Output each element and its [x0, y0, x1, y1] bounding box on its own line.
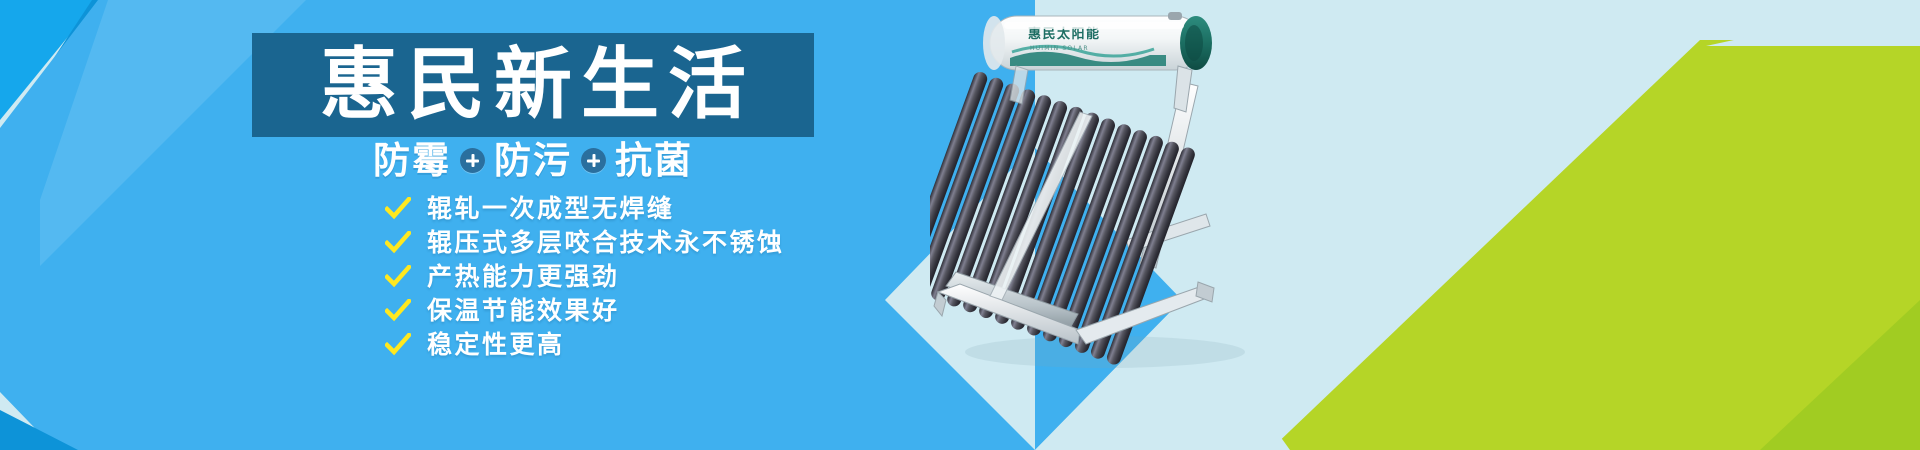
- storage-tank: 惠民太阳能 HUIMIN SOLAR: [983, 12, 1212, 70]
- check-icon: [385, 299, 411, 323]
- feature-label: 产热能力更强劲: [427, 264, 620, 289]
- page-title: 惠民新生活: [252, 33, 814, 137]
- feature-label: 辊压式多层咬合技术永不锈蚀: [427, 230, 785, 255]
- plus-icon: [460, 148, 485, 173]
- subtitle-word-3: 抗菌: [615, 142, 693, 179]
- tank-brand-sublabel: HUIMIN SOLAR: [1030, 45, 1089, 52]
- check-icon: [385, 197, 411, 221]
- check-icon: [385, 333, 411, 357]
- check-icon: [385, 231, 411, 255]
- feature-label: 辊轧一次成型无焊缝: [427, 196, 675, 221]
- feature-label: 稳定性更高: [427, 332, 565, 357]
- banner-content: 惠民新生活 防霉 防污 抗菌 辊轧一次成型无焊缝 辊压式多层咬合技术永不锈蚀: [0, 0, 1000, 450]
- list-item: 稳定性更高: [385, 332, 785, 357]
- feature-list: 辊轧一次成型无焊缝 辊压式多层咬合技术永不锈蚀 产热能力更强劲 保温节能效果好: [385, 196, 785, 357]
- solar-water-heater-image: 惠民太阳能 HUIMIN SOLAR: [930, 0, 1290, 450]
- subtitle-word-1: 防霉: [373, 142, 451, 179]
- subtitle-row: 防霉 防污 抗菌: [252, 142, 814, 179]
- title-plate: 惠民新生活: [252, 33, 814, 137]
- promotional-banner: 惠民新生活 防霉 防污 抗菌 辊轧一次成型无焊缝 辊压式多层咬合技术永不锈蚀: [0, 0, 1920, 450]
- feature-label: 保温节能效果好: [427, 298, 620, 323]
- list-item: 辊压式多层咬合技术永不锈蚀: [385, 230, 785, 255]
- plus-icon: [581, 148, 606, 173]
- list-item: 产热能力更强劲: [385, 264, 785, 289]
- subtitle-word-2: 防污: [494, 142, 572, 179]
- check-icon: [385, 265, 411, 289]
- list-item: 辊轧一次成型无焊缝: [385, 196, 785, 221]
- list-item: 保温节能效果好: [385, 298, 785, 323]
